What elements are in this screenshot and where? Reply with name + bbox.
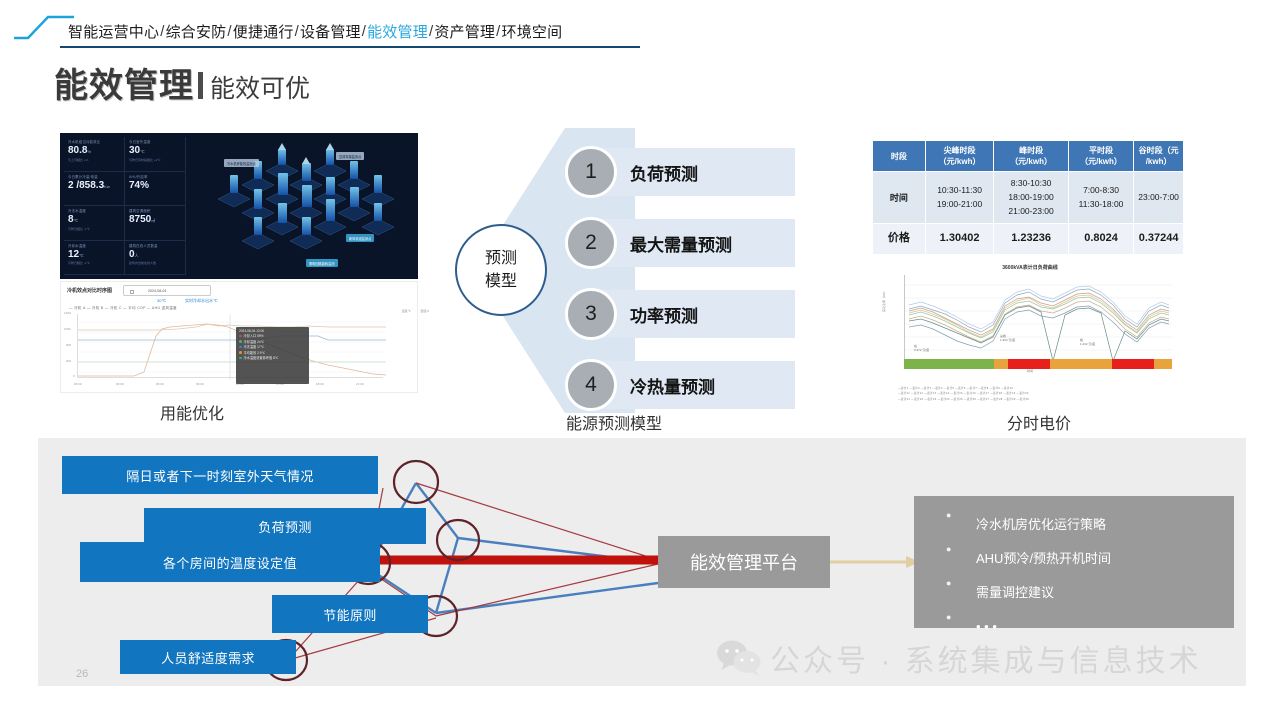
funnel-center-line1: 预测 <box>485 247 517 270</box>
kpi-card: 冷却水温度 12℃ 与昨日相比 -1℃ <box>64 241 125 276</box>
kpi-note: 与上月相比 +% <box>68 158 120 162</box>
page-title: 能效管理 能效可优 <box>54 58 310 107</box>
cell-flat-price: 0.8024 <box>1068 224 1133 255</box>
cell-sharp-peak-price: 1.30402 <box>925 224 993 255</box>
input-node-room-setpoint[interactable]: 各个房间的温度设定值 <box>80 542 380 582</box>
x-tick: 00:00 <box>74 382 82 386</box>
x-tick: 09:00 <box>196 382 204 386</box>
input-node-weather[interactable]: 隔日或者下一时刻室外天气情况 <box>62 456 378 494</box>
kpi-value: 8750 <box>129 214 151 225</box>
platform-node[interactable]: 能效管理平台 <box>658 536 830 588</box>
date-picker[interactable]: 2024-08-04 <box>123 285 211 296</box>
cell-flat-time: 7:00-8:3011:30-18:00 <box>1068 172 1133 224</box>
y-tick: 200 <box>66 359 71 363</box>
funnel-item-1[interactable]: 1 负荷预测 <box>565 148 795 196</box>
kpi-note: 与昨日同时段相比 +2℃ <box>129 158 181 162</box>
kpi-unit: % <box>87 149 91 154</box>
load-curve-x-label: 时间 <box>880 369 1180 373</box>
load-curve-annotation-valley: 谷0.372 元/度 <box>914 344 929 352</box>
kpi-card: 今日室外温度 30℃ 与昨日同时段相比 +2℃ <box>125 137 186 172</box>
kpi-card: 建筑在线人员数量 0人 建筑内当前在线人数 <box>125 241 186 276</box>
load-curve-y-label: 有功功率（kW） <box>882 290 886 312</box>
funnel-center-circle: 预测 模型 <box>455 224 547 316</box>
funnel-item-number: 4 <box>565 359 617 411</box>
cop-timeseries-chart: 冷机效点对比时序图 2024-08-04 30℃ 实时冷却水出水℃ — 冷机 A… <box>60 281 418 393</box>
kpi-unit: ℃ <box>74 218 79 223</box>
chart-title: 冷机效点对比时序图 <box>67 287 112 294</box>
date-picker-value: 2024-08-04 <box>148 289 166 293</box>
map-svg <box>190 133 418 279</box>
th-sharp-peak: 尖峰时段 （元/kwh） <box>925 141 993 172</box>
kpi-unit: ℃ <box>140 149 145 154</box>
kpi-note: 与昨日相比 -1℃ <box>68 227 120 231</box>
input-node-load-forecast[interactable]: 负荷预测 <box>144 508 426 544</box>
row-head-time: 时间 <box>873 172 926 224</box>
load-curve-legend: —表计1 —表计2 —表计3 —表计4 —表计5 —表计6 —表计7 —表计8 … <box>898 386 1174 402</box>
row-head-price: 价格 <box>873 224 926 255</box>
price-table: 时段 尖峰时段 （元/kwh） 峰时段 （元/kwh） 平时段 （元/kwh） <box>872 140 1184 255</box>
price-band-svg <box>904 359 1172 369</box>
caption-middle: 能源预测模型 <box>566 410 662 434</box>
cell-peak-time: 8:30-10:3018:00-19:0021:00-23:00 <box>994 172 1069 224</box>
map-tag[interactable]: 新风机组监测点 <box>346 234 374 242</box>
energy-dashboard-image: 冷水机组当月能效比 80.8% 与上月相比 +% 今日室外温度 30℃ 与昨日同… <box>60 133 418 279</box>
th-flat: 平时段 （元/kwh） <box>1068 141 1133 172</box>
title-divider <box>198 72 203 99</box>
x-tick: 21:00 <box>356 382 364 386</box>
funnel-item-2[interactable]: 2 最大需量预测 <box>565 219 795 267</box>
outputs-list: 冷水机房优化运行策略 AHU预冷/预热开机时间 需量调控建议 • • • <box>914 496 1234 633</box>
chart-legend: — 冷机 A — 冷机 B — 冷机 C — 平均 COP — AHU 送风温度 <box>69 305 177 310</box>
cell-sharp-peak-time: 10:30-11:3019:00-21:00 <box>925 172 993 224</box>
calendar-icon <box>130 290 134 294</box>
time-of-use-price-table: 时段 尖峰时段 （元/kwh） 峰时段 （元/kwh） 平时段 （元/kwh） <box>872 140 1184 255</box>
cell-valley-time: 23:00-7:00 <box>1134 172 1184 224</box>
page-number: 26 <box>76 668 88 680</box>
funnel-item-3[interactable]: 3 功率预测 <box>565 290 795 338</box>
output-item: AHU预冷/预热开机时间 <box>946 552 1234 565</box>
page-title-main: 能效管理 <box>54 58 194 107</box>
funnel-item-number: 2 <box>565 217 617 269</box>
map-tag[interactable]: 空调末端监测点 <box>336 152 364 160</box>
x-tick: 06:00 <box>156 382 164 386</box>
kpi-card: 建筑空调面积 8750㎡ <box>125 206 186 241</box>
chart-note-right: 实时冷却水出水℃ <box>185 298 218 304</box>
funnel-item-number: 1 <box>565 146 617 198</box>
kpi-value: 80.8 <box>68 145 87 156</box>
prediction-model-funnel: 预测 模型 1 负荷预测 2 最大需量预测 3 功率预测 4 冷热量预测 <box>455 128 795 413</box>
load-curve-annotation-peak: 尖峰1.304 元/度 <box>1000 334 1015 342</box>
table-row: 价格 1.30402 1.23236 0.8024 0.37244 <box>873 224 1184 255</box>
funnel-item-label: 最大需量预测 <box>630 231 732 256</box>
load-curve-plot <box>904 275 1172 366</box>
cell-peak-price: 1.23236 <box>994 224 1069 255</box>
breadcrumb-item-5[interactable]: 资产管理 <box>434 21 495 42</box>
funnel-item-label: 冷热量预测 <box>630 373 715 398</box>
input-node-comfort[interactable]: 人员舒适度需求 <box>120 640 296 674</box>
building-3d-map: 冷水机房能效监测点 空调末端监测点 新风机组监测点 照明回路能耗监测 <box>190 133 418 279</box>
kpi-unit: ℃ <box>79 253 84 258</box>
outputs-panel: 冷水机房优化运行策略 AHU预冷/预热开机时间 需量调控建议 • • • <box>914 496 1234 628</box>
table-header-row: 时段 尖峰时段 （元/kwh） 峰时段 （元/kwh） 平时段 （元/kwh） <box>873 141 1184 172</box>
kpi-value: 12 <box>68 249 79 260</box>
kpi-unit: 人 <box>135 253 139 258</box>
th-valley: 谷时段（元 /kwh） <box>1134 141 1184 172</box>
page-title-sub: 能效可优 <box>210 69 310 105</box>
kpi-unit: ㎡ <box>151 218 155 223</box>
funnel-item-4[interactable]: 4 冷热量预测 <box>565 361 795 409</box>
chart-plot-area: 1400 1000 600 200 0 00:00 03:00 06:00 09… <box>77 314 383 378</box>
th-period: 时段 <box>873 141 926 172</box>
load-curve-annotation-flat: 峰1.232 元/度 <box>1080 338 1095 346</box>
breadcrumb-item-1[interactable]: 综合安防 <box>166 21 227 42</box>
y-tick: 1400 <box>64 311 71 315</box>
breadcrumb-item-6[interactable]: 环境空间 <box>502 21 563 42</box>
kpi-card: AHU开启率 74% <box>125 172 186 207</box>
tooltip-row: 冷水温度设置参考值 8℃ <box>239 356 306 361</box>
watermark: 公众号 · 系统集成与信息技术 <box>716 636 1202 680</box>
load-curve-title: 3600kVA表计日负荷曲线 <box>880 264 1180 271</box>
y-tick: 0 <box>73 374 75 378</box>
breadcrumb: 智能运营中心 / 综合安防 / 便捷通行 / 设备管理 / 能效管理 / 资产管… <box>60 16 640 48</box>
output-item: 冷水机房优化运行策略 <box>946 518 1234 531</box>
caption-left: 用能优化 <box>160 400 224 424</box>
breadcrumb-item-3[interactable]: 设备管理 <box>300 21 361 42</box>
caption-right: 分时电价 <box>1007 410 1071 434</box>
kpi-value: 30 <box>129 145 140 156</box>
map-tag[interactable]: 照明回路能耗监测 <box>306 259 338 267</box>
right-axis-label-2: 湿度% <box>420 309 429 313</box>
kpi-note: 建筑内当前在线人数 <box>129 261 181 265</box>
kpi-note: 与昨日相比 -1℃ <box>68 261 120 265</box>
kpi-value: 2 /858.3 <box>68 180 104 191</box>
breadcrumb-item-2[interactable]: 便捷通行 <box>233 21 294 42</box>
th-peak: 峰时段 （元/kwh） <box>994 141 1069 172</box>
kpi-card: 冷水机组当月能效比 80.8% 与上月相比 +% <box>64 137 125 172</box>
input-node-saving-principle[interactable]: 节能原则 <box>272 595 428 633</box>
table-row: 时间 10:30-11:3019:00-21:00 8:30-10:3018:0… <box>873 172 1184 224</box>
breadcrumb-item-0[interactable]: 智能运营中心 <box>68 21 159 42</box>
kpi-card: 冷冻水温度 8℃ 与昨日相比 -1℃ <box>64 206 125 241</box>
daily-load-curve-image: 3600kVA表计日负荷曲线 有功功率（kW） <box>880 262 1180 404</box>
map-tag[interactable]: 冷水机房能效监测点 <box>224 159 259 167</box>
chart-lines <box>78 314 386 380</box>
funnel-item-number: 3 <box>565 288 617 340</box>
chart-note-left: 30℃ <box>157 298 166 303</box>
right-axis-label-1: 温度℃ <box>402 309 411 313</box>
breadcrumb-item-4-active[interactable]: 能效管理 <box>367 21 428 42</box>
kpi-unit: Kw <box>104 184 110 189</box>
funnel-item-label: 负荷预测 <box>630 160 698 185</box>
load-curve-lines <box>905 275 1173 366</box>
y-tick: 1000 <box>64 327 71 331</box>
cell-valley-price: 0.37244 <box>1134 224 1184 255</box>
x-tick: 03:00 <box>116 382 124 386</box>
wechat-icon <box>716 639 762 677</box>
kpi-value: 74% <box>129 180 149 191</box>
watermark-text: 公众号 · 系统集成与信息技术 <box>770 636 1202 680</box>
y-tick: 600 <box>66 343 71 347</box>
chart-tooltip: 2024-08-04 12:00 冷却入口 69% 冷却温度 24℃ 冷冻温度 … <box>236 327 309 384</box>
kpi-grid: 冷水机组当月能效比 80.8% 与上月相比 +% 今日室外温度 30℃ 与昨日同… <box>64 137 186 275</box>
slide-root: 智能运营中心 / 综合安防 / 便捷通行 / 设备管理 / 能效管理 / 资产管… <box>0 0 1280 719</box>
funnel-item-label: 功率预测 <box>630 302 698 327</box>
output-item: 需量调控建议 <box>946 586 1234 599</box>
load-curve-price-band <box>904 356 1172 366</box>
kpi-card: 今日累计冷量/电量 2 /858.3Kw <box>64 172 125 207</box>
x-tick: 18:00 <box>316 382 324 386</box>
funnel-center-line2: 模型 <box>485 270 517 293</box>
output-item: • • • <box>946 620 1234 633</box>
